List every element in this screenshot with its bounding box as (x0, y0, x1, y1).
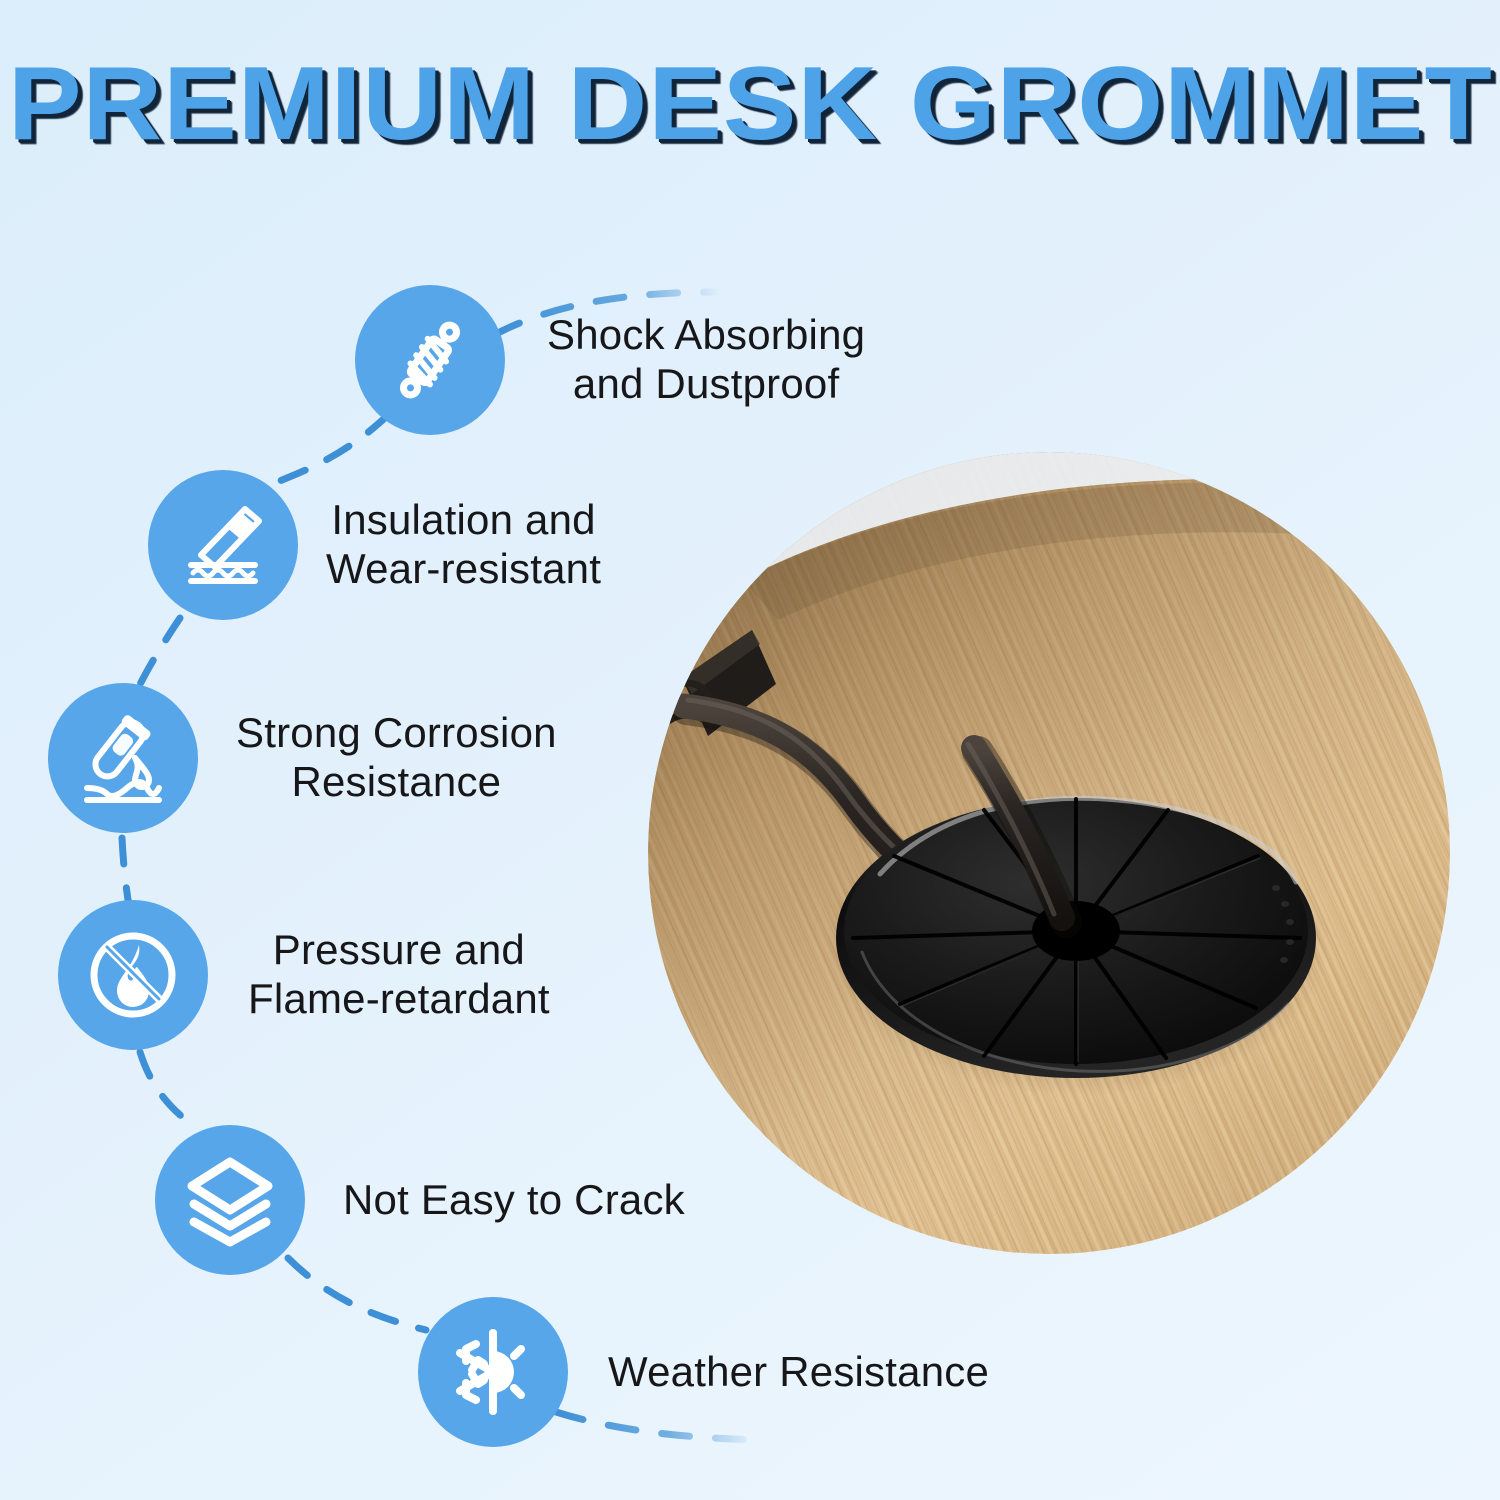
snowflake-sun-icon (444, 1323, 542, 1421)
feature-label: Pressure and Flame-retardant (248, 926, 550, 1023)
feature-shock-absorbing[interactable]: Shock Absorbing and Dustproof (355, 285, 865, 435)
product-photo (648, 452, 1450, 1254)
feature-icon-bubble (355, 285, 505, 435)
feature-label: Shock Absorbing and Dustproof (547, 311, 865, 408)
feature-icon-bubble (48, 683, 198, 833)
feature-flame-retardant[interactable]: Pressure and Flame-retardant (58, 900, 550, 1050)
feature-label: Strong Corrosion Resistance (236, 709, 557, 806)
photo-clip-group (648, 452, 1450, 1254)
feature-label: Not Easy to Crack (343, 1176, 685, 1225)
title-container: PREMIUM DESK GROMMET (0, 52, 1500, 156)
feature-corrosion-resistance[interactable]: Strong Corrosion Resistance (48, 683, 557, 833)
page-title: PREMIUM DESK GROMMET (8, 52, 1493, 156)
test-tube-drip-icon (75, 710, 171, 806)
infographic-stage: PREMIUM DESK GROMMET (0, 0, 1500, 1500)
blade-on-surface-icon (175, 497, 271, 593)
feature-icon-bubble (58, 900, 208, 1050)
feature-not-easy-to-crack[interactable]: Not Easy to Crack (155, 1125, 685, 1275)
feature-icon-bubble (418, 1297, 568, 1447)
feature-label: Weather Resistance (608, 1348, 989, 1397)
feature-weather-resistance[interactable]: Weather Resistance (418, 1297, 989, 1447)
feature-label: Insulation and Wear-resistant (326, 496, 601, 593)
feature-icon-bubble (155, 1125, 305, 1275)
feature-insulation[interactable]: Insulation and Wear-resistant (148, 470, 601, 620)
stacked-layers-icon (182, 1152, 278, 1248)
shock-absorber-icon (382, 312, 478, 408)
feature-icon-bubble (148, 470, 298, 620)
no-flame-icon (83, 925, 183, 1025)
